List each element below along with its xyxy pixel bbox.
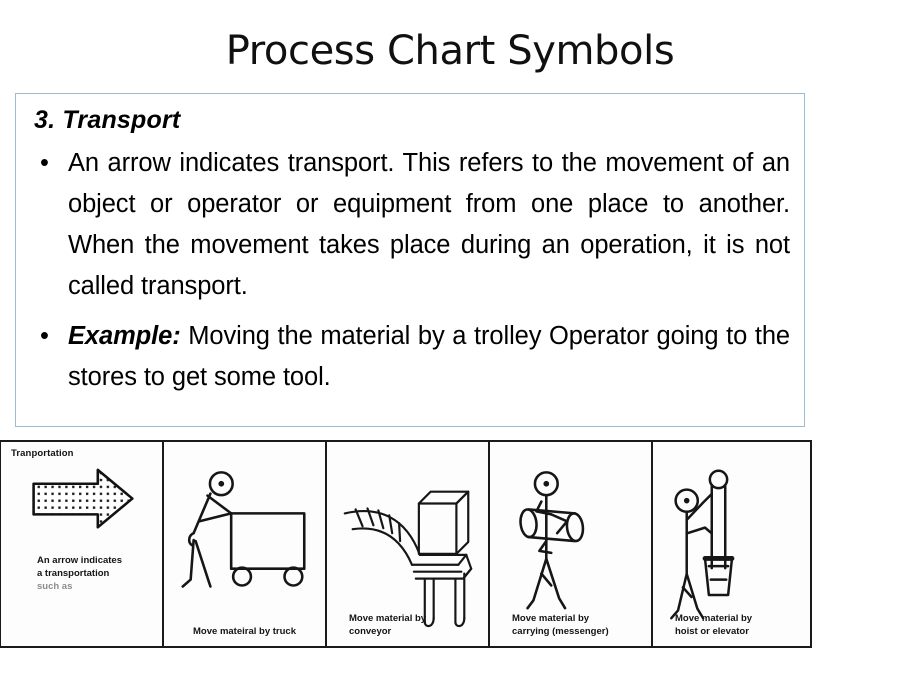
figure-note-line: a transportation [37,567,122,580]
content-box: 3. Transport •An arrow indicates transpo… [15,93,805,427]
figure-cell-truck: Move mateiral by truck [164,442,327,646]
figure-cell-transportation: Tranportation An arrow indicates a trans… [1,442,164,646]
page-title: Process Chart Symbols [0,28,900,74]
bullet-list: •An arrow indicates transport. This refe… [30,143,790,398]
figure-caption: Move material by carrying (messenger) [490,613,651,638]
figure-strip: Tranportation An arrow indicates a trans… [0,440,812,648]
figure-note-line: An arrow indicates [37,554,122,567]
figure-cell-note: An arrow indicates a transportation such… [37,554,122,593]
bullet-lead-label: Example: [68,322,188,350]
bullet-text: An arrow indicates transport. This refer… [68,149,790,300]
figure-note-line: such as [37,580,122,593]
worker-pushing-truck-icon [164,442,325,646]
figure-cell-carrying: Move material by carrying (messenger) [490,442,653,646]
dotted-right-arrow-icon [1,442,162,646]
figure-caption: Move mateiral by truck [164,626,325,639]
figure-caption: Move material by conveyor [327,613,488,638]
list-item: •Example: Moving the material by a troll… [30,316,790,398]
bullet-dot-icon: • [40,143,49,184]
section-heading: 3. Transport [34,105,790,135]
figure-caption: Move material by hoist or elevator [653,613,810,638]
bullet-dot-icon: • [40,316,49,357]
figure-cell-hoist: Move material by hoist or elevator [653,442,810,646]
list-item: •An arrow indicates transport. This refe… [30,143,790,307]
figure-cell-conveyor: Move material by conveyor [327,442,490,646]
